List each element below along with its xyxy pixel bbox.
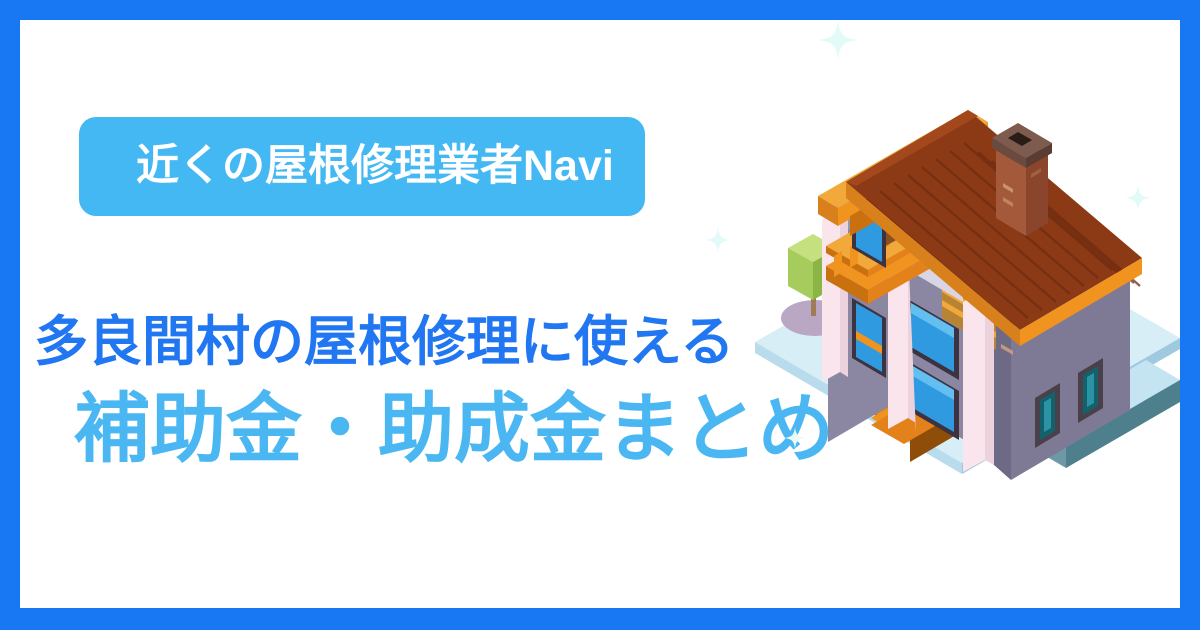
headline-block: 多良間村の屋根修理に使える 補助金・助成金まとめ (20, 312, 800, 474)
isometric-house-illustration (710, 50, 1180, 550)
brand-badge: 近くの屋根修理業者Navi (79, 117, 645, 216)
og-card: 近くの屋根修理業者Navi 多良間村の屋根修理に使える 補助金・助成金まとめ (0, 0, 1200, 630)
brand-badge-label: 近くの屋根修理業者Navi (79, 145, 614, 188)
card-inner-canvas: 近くの屋根修理業者Navi 多良間村の屋根修理に使える 補助金・助成金まとめ (20, 20, 1180, 608)
headline-main-title: 補助金・助成金まとめ (20, 386, 800, 473)
headline-subtitle: 多良間村の屋根修理に使える (20, 312, 800, 372)
